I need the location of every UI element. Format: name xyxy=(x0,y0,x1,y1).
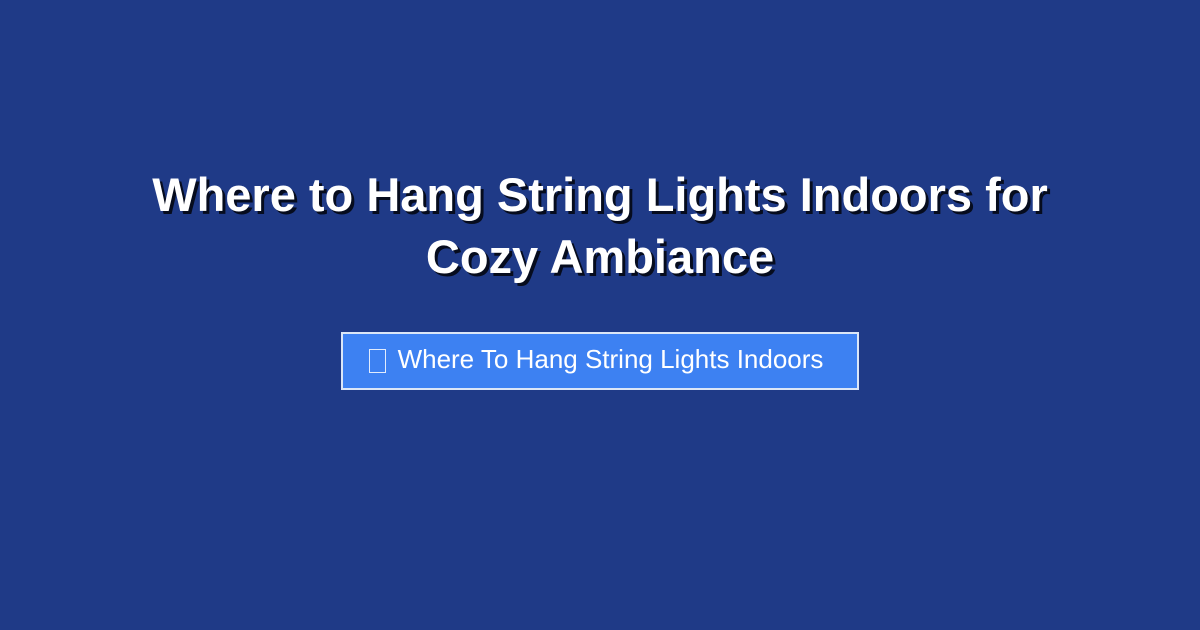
missing-glyph-box-icon xyxy=(369,349,386,373)
card-content: Where to Hang String Lights Indoors for … xyxy=(100,164,1100,389)
social-share-card: Where to Hang String Lights Indoors for … xyxy=(0,0,1200,630)
topic-badge-button[interactable]: Where To Hang String Lights Indoors xyxy=(341,332,860,390)
topic-badge-label: Where To Hang String Lights Indoors xyxy=(398,345,824,375)
badge-container: Where To Hang String Lights Indoors xyxy=(100,332,1100,390)
page-title: Where to Hang String Lights Indoors for … xyxy=(110,164,1090,286)
